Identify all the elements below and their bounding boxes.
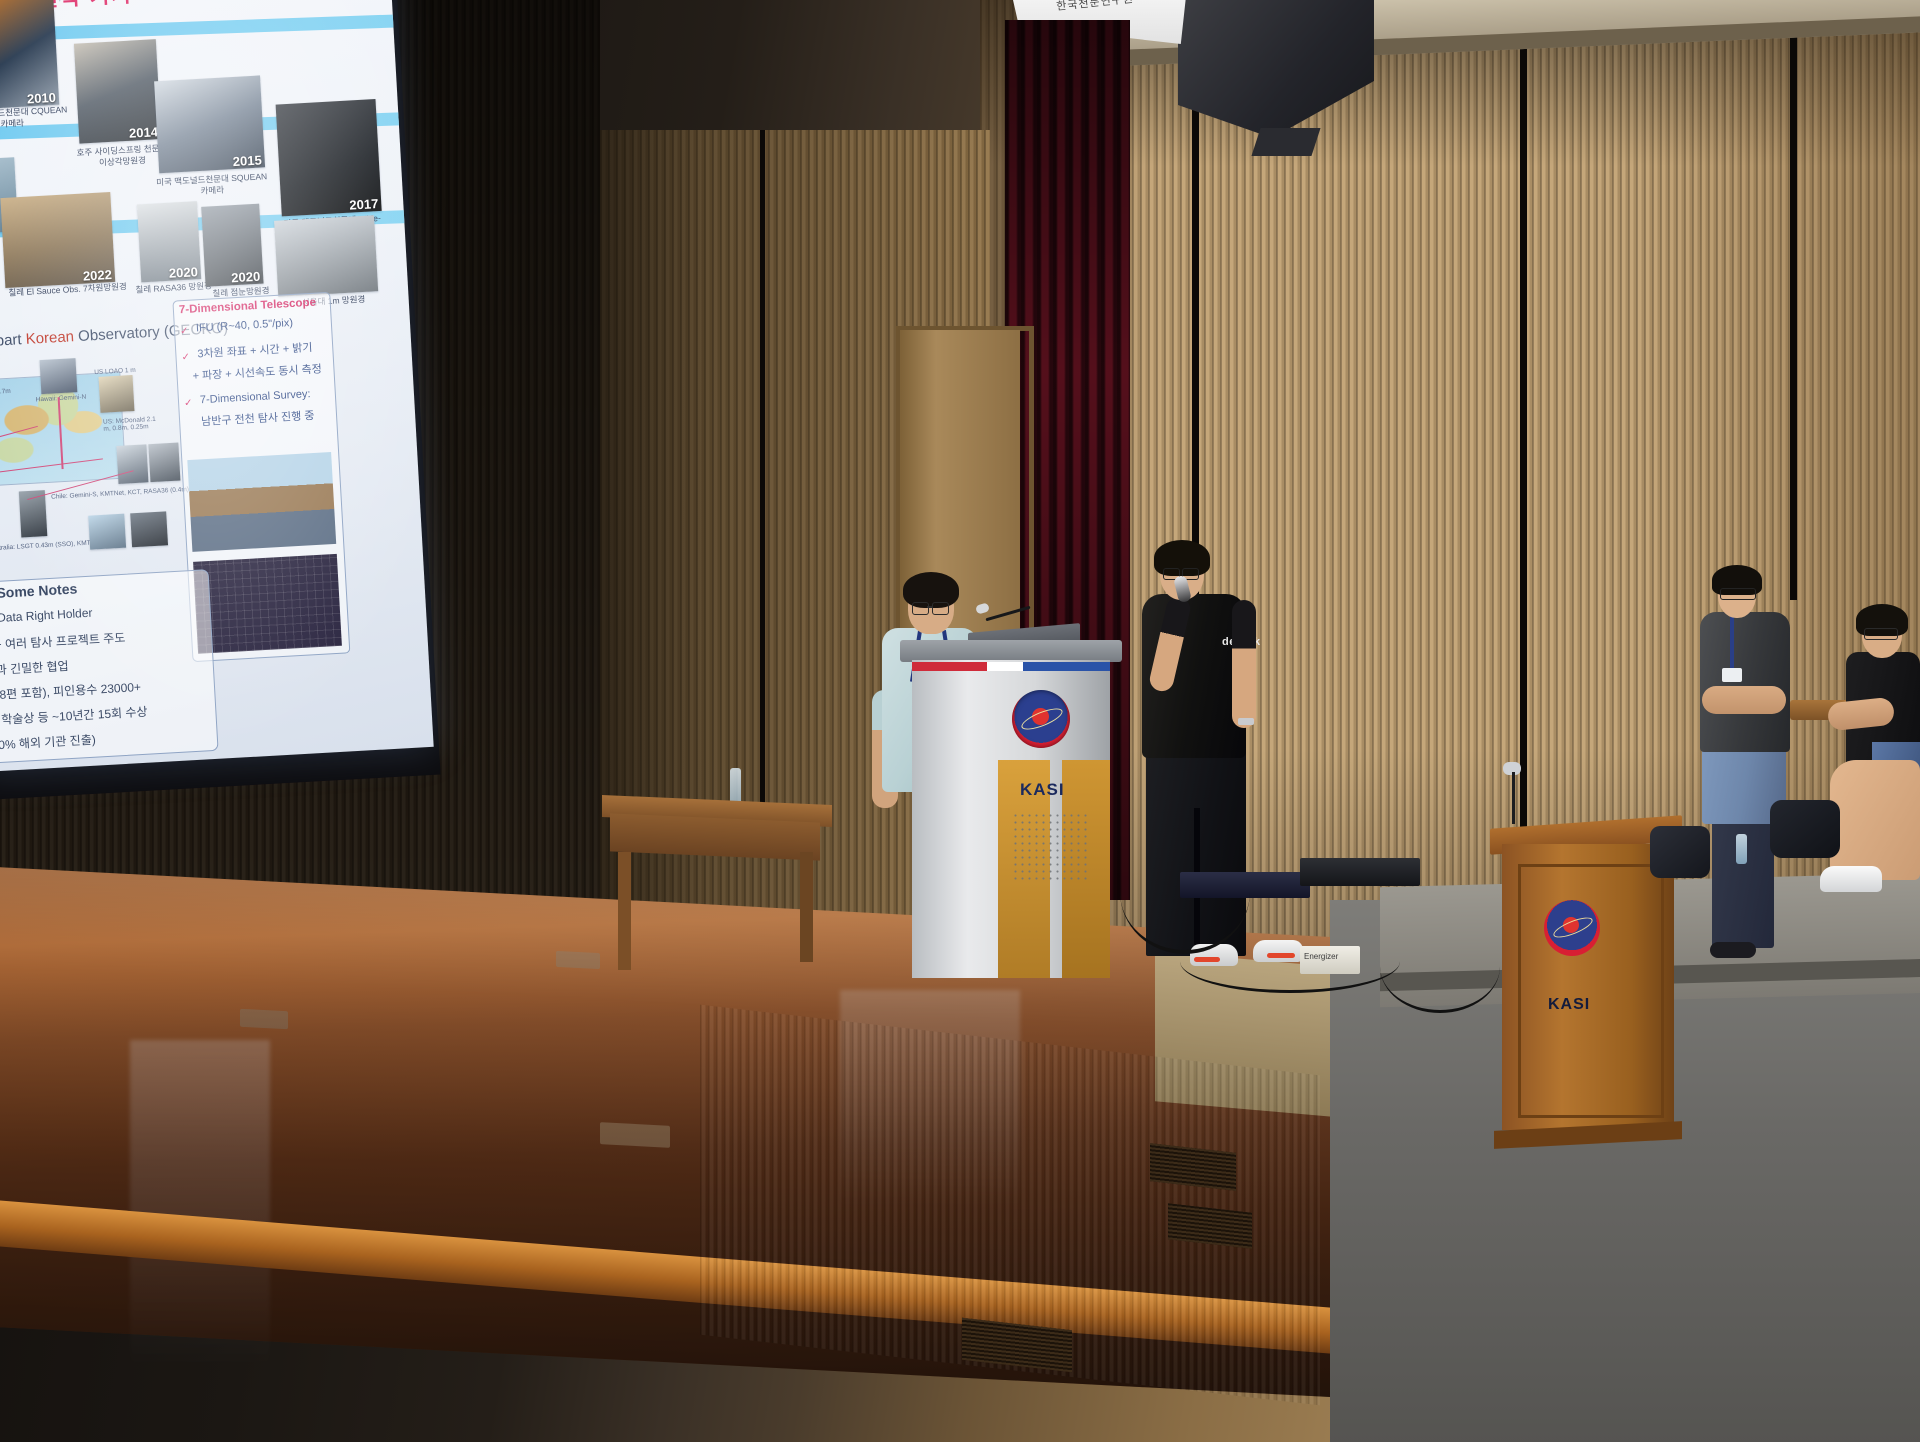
thumbnail-year: 2014 xyxy=(129,124,159,141)
attendee-shoe xyxy=(1710,942,1756,958)
backpack xyxy=(1770,800,1840,858)
thumbnail-year: 2022 xyxy=(83,267,113,284)
observatory-thumb xyxy=(130,511,168,547)
observatory-thumb xyxy=(40,358,78,394)
thumbnail-image: 2014 xyxy=(74,39,161,143)
side-table-leg xyxy=(618,852,631,970)
thumbnail-year: 2020 xyxy=(231,269,261,286)
thumbnail-year: 2010 xyxy=(27,90,57,107)
thumbnail-image: 2020 xyxy=(137,201,201,282)
thumbnail-caption: 미국 맥도널드천문대 SQUEAN 카메라 xyxy=(155,171,268,198)
thumbnail-image: 2017 xyxy=(276,99,382,216)
glasses-icon xyxy=(932,602,949,615)
projection-screen: 🔭 관측 기기 2010 미국 맥도널드천문대 CQUEAN 카메라 2014 … xyxy=(0,0,434,772)
attendee-shoe xyxy=(1820,866,1882,892)
backpack xyxy=(1650,826,1710,878)
floor-plate xyxy=(600,1122,670,1148)
check-icon: ✓ xyxy=(184,398,193,409)
observatory-photo xyxy=(187,452,336,552)
screen-reflection xyxy=(130,1040,270,1370)
floor-plate xyxy=(556,951,600,969)
audio-cable xyxy=(1180,930,1400,993)
section-title-highlight: Korean xyxy=(25,328,74,348)
glasses-icon xyxy=(1720,588,1756,600)
section-title-prefix: Counterpart xyxy=(0,331,26,353)
pa-speaker-mount xyxy=(1251,128,1320,156)
slide-stripe xyxy=(0,14,411,44)
audio-cable xyxy=(1380,920,1500,1013)
observatory-thumb xyxy=(148,443,180,483)
floor-plate xyxy=(240,1009,288,1030)
presentation-slide: 🔭 관측 기기 2010 미국 맥도널드천문대 CQUEAN 카메라 2014 … xyxy=(0,0,434,772)
thumbnail-year: 2015 xyxy=(232,152,262,169)
glasses-icon xyxy=(1864,628,1898,640)
observatory-thumb xyxy=(99,375,135,413)
presenter-arm-right xyxy=(1232,600,1256,728)
auditorium-presentation-photo: 한국천문연구원 🔭 관측 기기 2010 미국 맥도널드천문대 CQUEAN 카… xyxy=(0,0,1920,1442)
name-badge xyxy=(1722,668,1742,682)
lectern-front-panel xyxy=(1518,864,1664,1118)
wall-seam xyxy=(1520,0,1527,860)
thumbnail-year: 2017 xyxy=(349,196,379,213)
side-table-leg xyxy=(800,852,813,962)
attendee-torso xyxy=(1700,612,1790,752)
thumbnail-image xyxy=(274,215,378,296)
check-icon: ✓ xyxy=(180,326,189,337)
podium-perforated-panel xyxy=(1012,812,1088,884)
stage-monitor xyxy=(1300,858,1420,886)
podium-wordmark: KASI xyxy=(1020,780,1065,800)
thumbnail-year: 2020 xyxy=(169,264,199,281)
thumbnail-image: 2020 xyxy=(201,204,263,287)
lanyard-strap xyxy=(1730,614,1734,672)
map-label: Australia: LSGT 0.43m (SSO), KMTNet xyxy=(0,539,101,552)
glasses-bridge xyxy=(927,606,933,608)
map-label: US: McDonald 2.1 m, 0.8m, 0.25m xyxy=(103,415,164,432)
observatory-thumb xyxy=(116,444,148,484)
star-field-photo xyxy=(193,554,342,654)
podium-color-stripe xyxy=(912,662,1110,671)
water-bottle xyxy=(730,768,741,804)
attendee-legs xyxy=(1830,760,1920,880)
glasses-icon xyxy=(912,602,929,615)
thumbnail-image: 2022 xyxy=(0,192,115,288)
observatory-thumb xyxy=(88,514,126,550)
water-bottle xyxy=(1736,834,1747,864)
wall-seam xyxy=(1790,0,1797,600)
wall-seam xyxy=(760,130,765,830)
check-icon: ✓ xyxy=(181,352,190,363)
thumbnail-image: 2015 xyxy=(154,75,265,173)
podium-top xyxy=(900,640,1122,662)
attendee-folded-arms xyxy=(1702,686,1786,714)
thumbnail-image: 2010 xyxy=(0,0,59,110)
lectern-microphone-stem xyxy=(1512,772,1515,824)
wristwatch xyxy=(1238,718,1254,725)
lectern-wordmark: KASI xyxy=(1548,996,1590,1014)
